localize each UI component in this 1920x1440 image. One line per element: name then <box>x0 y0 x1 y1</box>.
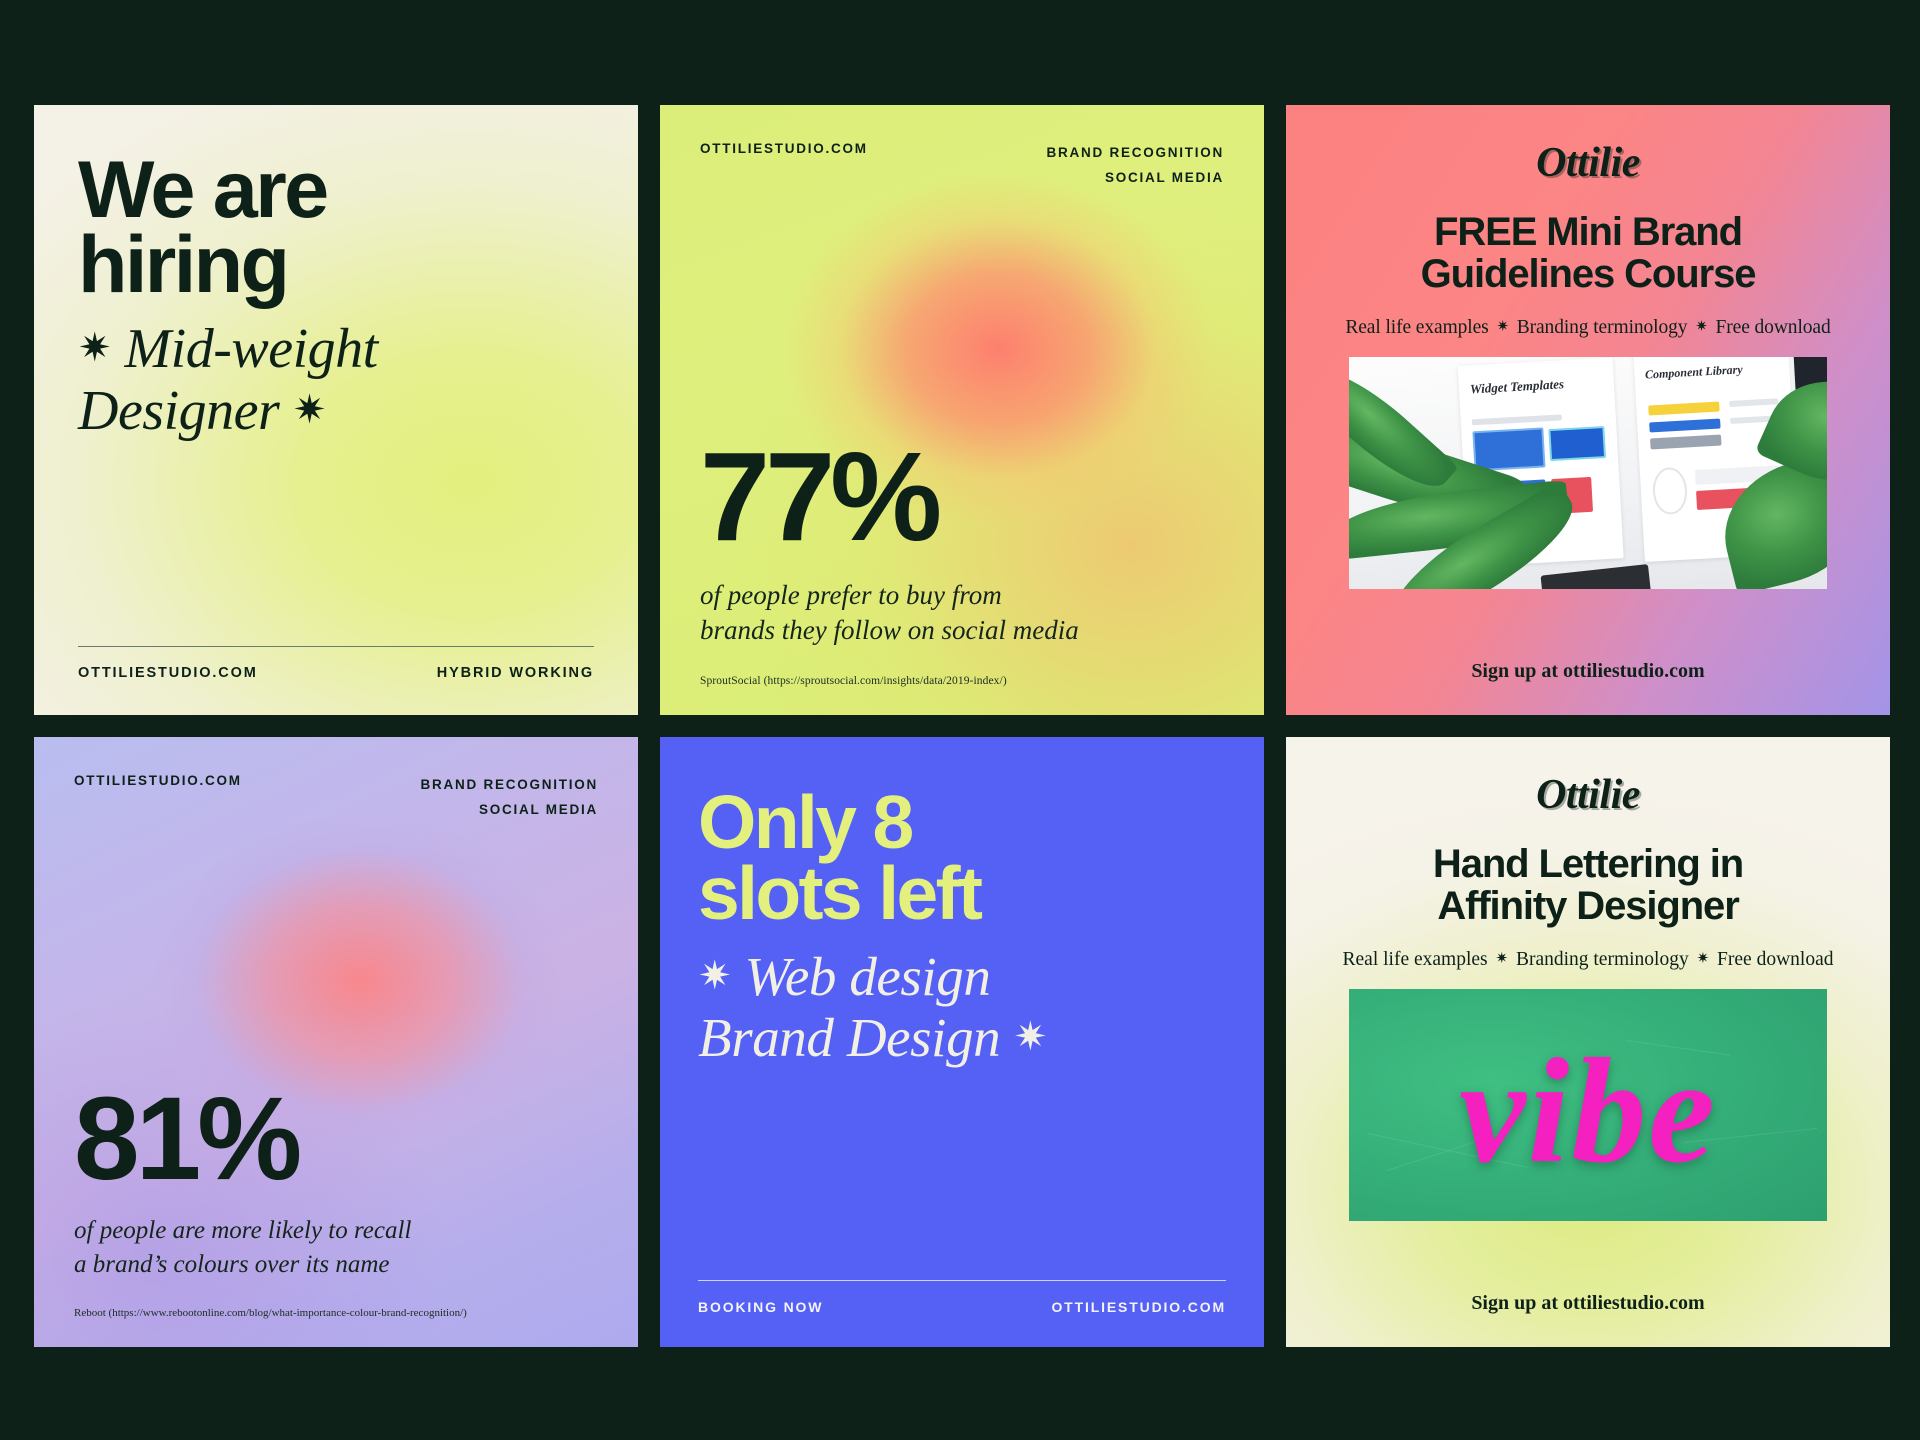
stat77-description-line1: of people prefer to buy from <box>700 578 1224 614</box>
lettering-title: Hand Lettering in Affinity Designer <box>1433 843 1743 927</box>
stat77-body-wrap: 77% of people prefer to buy from brands … <box>700 191 1224 687</box>
star-icon: ✷ <box>698 953 731 998</box>
lettering-photo: vibe <box>1349 989 1827 1221</box>
star-icon: ✷ <box>78 325 111 370</box>
slots-heading-line1: Only 8 <box>698 787 1226 858</box>
stat81-description: of people are more likely to recall a br… <box>74 1214 598 1281</box>
card-slots-left[interactable]: Only 8 slots left ✷ Web design Brand Des… <box>660 737 1264 1347</box>
poster-grid: We are hiring ✷ Mid-weight Designer ✷ OT… <box>0 0 1920 1440</box>
course-footer-cta[interactable]: Sign up at ottiliestudio.com <box>1471 660 1704 689</box>
star-icon: ✷ <box>1692 319 1710 335</box>
stat81-source: Reboot (https://www.rebootonline.com/blo… <box>74 1307 598 1319</box>
vibe-word: vibe <box>1349 995 1827 1221</box>
slots-service-line2: Brand Design <box>698 1007 1000 1068</box>
stat77-description-line2: brands they follow on social media <box>700 613 1224 649</box>
course-bullet-1: Branding terminology <box>1517 317 1688 338</box>
lettering-bullets: Real life examples ✷ Branding terminolog… <box>1343 949 1834 971</box>
stat81-tag-line1: BRAND RECOGNITION <box>421 777 599 792</box>
spacer <box>78 443 594 646</box>
star-icon: ✷ <box>1014 1014 1047 1059</box>
stat77-source: SproutSocial (https://sproutsocial.com/i… <box>700 675 1224 687</box>
stat77-tags: BRAND RECOGNITION SOCIAL MEDIA <box>1047 141 1225 191</box>
hiring-heading: We are hiring <box>78 153 594 304</box>
spacer <box>698 1069 1226 1280</box>
stat81-tag-line2: SOCIAL MEDIA <box>479 802 598 817</box>
course-bullet-0: Real life examples <box>1345 317 1488 338</box>
slots-heading-line2: slots left <box>698 858 1226 929</box>
slots-footer: BOOKING NOW OTTILIESTUDIO.COM <box>698 1299 1226 1315</box>
stat77-website[interactable]: OTTILIESTUDIO.COM <box>700 141 868 156</box>
stat81-website[interactable]: OTTILIESTUDIO.COM <box>74 773 242 788</box>
widget-templates-title: Widget Templates <box>1469 376 1564 397</box>
monitor-stand <box>1541 564 1653 589</box>
hiring-subheading-line2: Designer ✷ <box>78 380 594 443</box>
slots-footer-status: BOOKING NOW <box>698 1299 823 1315</box>
course-title: FREE Mini Brand Guidelines Course <box>1421 211 1756 295</box>
course-title-line1: FREE Mini Brand <box>1421 211 1756 253</box>
star-icon: ✷ <box>1493 319 1511 335</box>
hiring-footer-tag: HYBRID WORKING <box>437 665 594 681</box>
lettering-bullet-0: Real life examples <box>1343 949 1488 970</box>
course-bullet-2: Free download <box>1716 317 1831 338</box>
lettering-footer-cta[interactable]: Sign up at ottiliestudio.com <box>1471 1292 1704 1321</box>
stat77-header: OTTILIESTUDIO.COM BRAND RECOGNITION SOCI… <box>700 141 1224 191</box>
hiring-role-line1: Mid-weight <box>125 318 378 380</box>
stat77-value: 77% <box>700 440 1224 553</box>
card-we-are-hiring[interactable]: We are hiring ✷ Mid-weight Designer ✷ OT… <box>34 105 638 715</box>
stat77-tag-line2: SOCIAL MEDIA <box>1105 170 1224 185</box>
hiring-heading-line1: We are <box>78 153 594 228</box>
slots-heading: Only 8 slots left <box>698 787 1226 930</box>
hiring-subheading: ✷ Mid-weight Designer ✷ <box>78 318 594 443</box>
course-title-line2: Guidelines Course <box>1421 253 1756 295</box>
stat81-body-wrap: 81% of people are more likely to recall … <box>74 823 598 1319</box>
card-hand-lettering[interactable]: Ottilie Hand Lettering in Affinity Desig… <box>1286 737 1890 1347</box>
stat81-tags: BRAND RECOGNITION SOCIAL MEDIA <box>421 773 599 823</box>
star-icon: ✷ <box>1694 951 1713 967</box>
stat81-description-line1: of people are more likely to recall <box>74 1214 598 1248</box>
card-free-course[interactable]: Ottilie FREE Mini Brand Guidelines Cours… <box>1286 105 1890 715</box>
hiring-footer: OTTILIESTUDIO.COM HYBRID WORKING <box>78 665 594 681</box>
lettering-title-line2: Affinity Designer <box>1433 885 1743 927</box>
star-icon: ✷ <box>1492 951 1511 967</box>
stat81-header: OTTILIESTUDIO.COM BRAND RECOGNITION SOCI… <box>74 773 598 823</box>
star-icon: ✷ <box>293 387 326 432</box>
ottilie-logo: Ottilie <box>1536 139 1640 187</box>
slots-subheading: ✷ Web design Brand Design ✷ <box>698 946 1226 1069</box>
ottilie-logo: Ottilie <box>1536 771 1640 819</box>
slots-subheading-line2: Brand Design ✷ <box>698 1007 1226 1069</box>
lettering-bullet-2: Free download <box>1717 949 1833 970</box>
stat81-value: 81% <box>74 1086 598 1192</box>
card-stat-77[interactable]: OTTILIESTUDIO.COM BRAND RECOGNITION SOCI… <box>660 105 1264 715</box>
divider <box>698 1280 1226 1281</box>
hiring-heading-line2: hiring <box>78 228 594 303</box>
course-bullets: Real life examples ✷ Branding terminolog… <box>1345 317 1830 339</box>
lettering-title-line1: Hand Lettering in <box>1433 843 1743 885</box>
slots-footer-website[interactable]: OTTILIESTUDIO.COM <box>1051 1299 1226 1315</box>
slots-service-line1: Web design <box>744 946 990 1007</box>
hiring-footer-website[interactable]: OTTILIESTUDIO.COM <box>78 665 258 681</box>
hiring-role-line2: Designer <box>78 380 279 442</box>
stat77-description: of people prefer to buy from brands they… <box>700 578 1224 649</box>
stat77-tag-line1: BRAND RECOGNITION <box>1047 145 1225 160</box>
divider <box>78 646 594 647</box>
component-library-title: Component Library <box>1644 362 1742 382</box>
card-stat-81[interactable]: OTTILIESTUDIO.COM BRAND RECOGNITION SOCI… <box>34 737 638 1347</box>
course-photo: Widget Templates Component Library <box>1349 357 1827 589</box>
lettering-bullet-1: Branding terminology <box>1516 949 1689 970</box>
hiring-subheading-line1: ✷ Mid-weight <box>78 318 594 381</box>
slots-subheading-line1: ✷ Web design <box>698 946 1226 1008</box>
stat81-description-line2: a brand’s colours over its name <box>74 1248 598 1282</box>
